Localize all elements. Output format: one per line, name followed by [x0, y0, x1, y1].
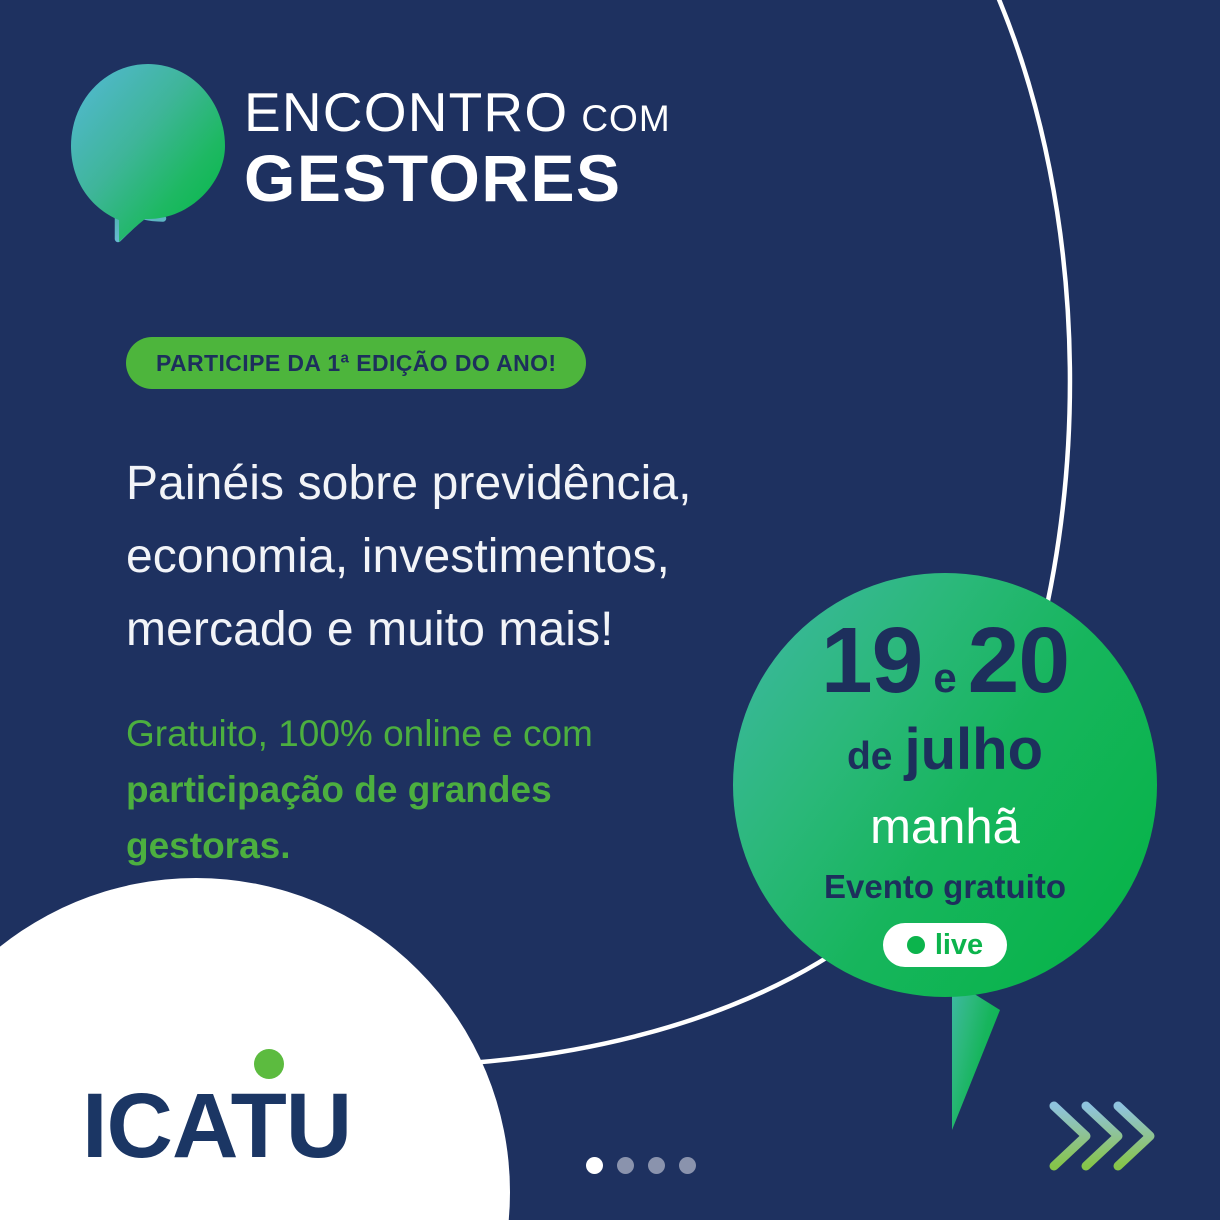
live-label: live: [935, 931, 983, 960]
event-price: Evento gratuito: [745, 870, 1145, 903]
carousel-dots[interactable]: [586, 1157, 696, 1174]
carousel-dot-4[interactable]: [679, 1157, 696, 1174]
carousel-dot-1[interactable]: [586, 1157, 603, 1174]
event-preposition: de: [847, 737, 893, 776]
event-details: 19 e 20 de julho manhã Evento gratuito l…: [745, 614, 1145, 967]
icatu-wordmark: ICATU: [82, 1080, 351, 1172]
brand-title-small: COM: [581, 100, 670, 137]
brand-title-bold: GESTORES: [244, 144, 671, 213]
event-day-first: 19: [821, 614, 922, 707]
event-month-line: de julho: [745, 721, 1145, 779]
event-month: julho: [905, 721, 1044, 779]
speech-bubbles-icon: [62, 56, 232, 248]
live-badge: live: [883, 923, 1007, 967]
edition-badge: PARTICIPE DA 1ª EDIÇÃO DO ANO!: [126, 337, 586, 389]
promo-poster: ENCONTRO COM GESTORES PARTICIPE DA 1ª ED…: [0, 0, 1220, 1220]
carousel-dot-3[interactable]: [648, 1157, 665, 1174]
carousel-dot-2[interactable]: [617, 1157, 634, 1174]
brand-wordmark: ENCONTRO COM GESTORES: [244, 85, 671, 219]
icatu-logo: ICATU: [82, 1080, 351, 1172]
event-period: manhã: [745, 803, 1145, 852]
event-days: 19 e 20: [745, 614, 1145, 707]
green-dot-icon: [254, 1049, 284, 1079]
live-dot-icon: [907, 936, 925, 954]
event-day-conjunction: e: [933, 657, 956, 699]
brand-lockup: ENCONTRO COM GESTORES: [62, 52, 682, 252]
subcopy-strong: participação de grandes gestoras.: [126, 769, 552, 866]
subcopy-text: Gratuito, 100% online e com participação…: [126, 706, 596, 875]
brand-title-light: ENCONTRO: [244, 85, 568, 140]
subcopy-lead: Gratuito, 100% online e com: [126, 713, 593, 754]
triple-chevron-right-icon: [1046, 1098, 1158, 1174]
headline-text: Painéis sobre previdência, economia, inv…: [126, 448, 786, 667]
event-day-second: 20: [968, 614, 1069, 707]
